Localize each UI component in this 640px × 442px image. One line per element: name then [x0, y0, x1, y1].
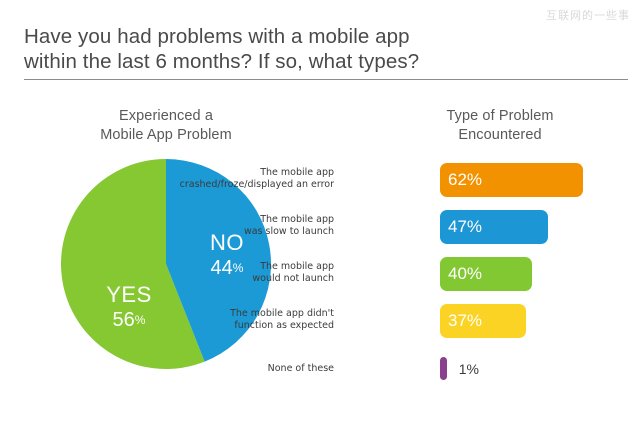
bar-chart: The mobile app crashed/froze/displayed a… [286, 163, 626, 385]
bar-value: 1% [459, 360, 479, 379]
bar-track: 40% [440, 257, 532, 291]
bar-fill-would-not-launch[interactable]: 40% [440, 257, 532, 291]
bar-row: The mobile app crashed/froze/displayed a… [286, 163, 626, 197]
bar-track: 37% [440, 304, 526, 338]
bar-value: 62% [448, 170, 482, 189]
bar-track: 47% [440, 210, 548, 244]
bar-fill-did-not-function[interactable]: 37% [440, 304, 526, 338]
bar-fill-crashed[interactable]: 62% [440, 163, 583, 197]
pie-label-yes-name: YES [96, 284, 162, 306]
bar-value: 47% [448, 217, 482, 236]
watermark-text: 互联网的一些事 [546, 7, 630, 23]
bar-heading-line-2: Encountered [398, 126, 602, 145]
bar-fill-slow-to-launch[interactable]: 47% [440, 210, 548, 244]
bar-label: The mobile app would not launch [174, 261, 334, 285]
bar-row: The mobile app would not launch 40% [286, 257, 626, 291]
bar-label: The mobile app crashed/froze/displayed a… [174, 167, 334, 191]
bar-row: None of these 1% [286, 351, 626, 385]
bar-label: None of these [174, 363, 334, 375]
bar-track: 62% [440, 163, 583, 197]
pie-heading-line-2: Mobile App Problem [46, 126, 286, 145]
bar-row: The mobile app didn't function as expect… [286, 304, 626, 338]
bar-label: The mobile app didn't function as expect… [174, 308, 334, 332]
bar-heading-line-1: Type of Problem [398, 107, 602, 126]
pie-label-yes: YES 56% [96, 284, 162, 330]
bar-label: The mobile app was slow to launch [174, 214, 334, 238]
bar-fill-none-of-these[interactable]: 1% [440, 357, 447, 380]
page-title: Have you had problems with a mobile app … [24, 24, 584, 74]
bar-value: 37% [448, 311, 482, 330]
bar-row: The mobile app was slow to launch 47% [286, 210, 626, 244]
bar-section-heading: Type of Problem Encountered [398, 107, 602, 145]
pie-label-yes-value: 56% [96, 310, 162, 330]
pie-heading-line-1: Experienced a [46, 107, 286, 126]
bar-track: 1% [440, 357, 447, 391]
title-divider [24, 79, 628, 80]
pie-section-heading: Experienced a Mobile App Problem [46, 107, 286, 145]
page-title-line-1: Have you had problems with a mobile app [24, 24, 584, 49]
bar-value: 40% [448, 264, 482, 283]
infographic-canvas: 互联网的一些事 Have you had problems with a mob… [0, 0, 640, 442]
page-title-line-2: within the last 6 months? If so, what ty… [24, 49, 584, 74]
